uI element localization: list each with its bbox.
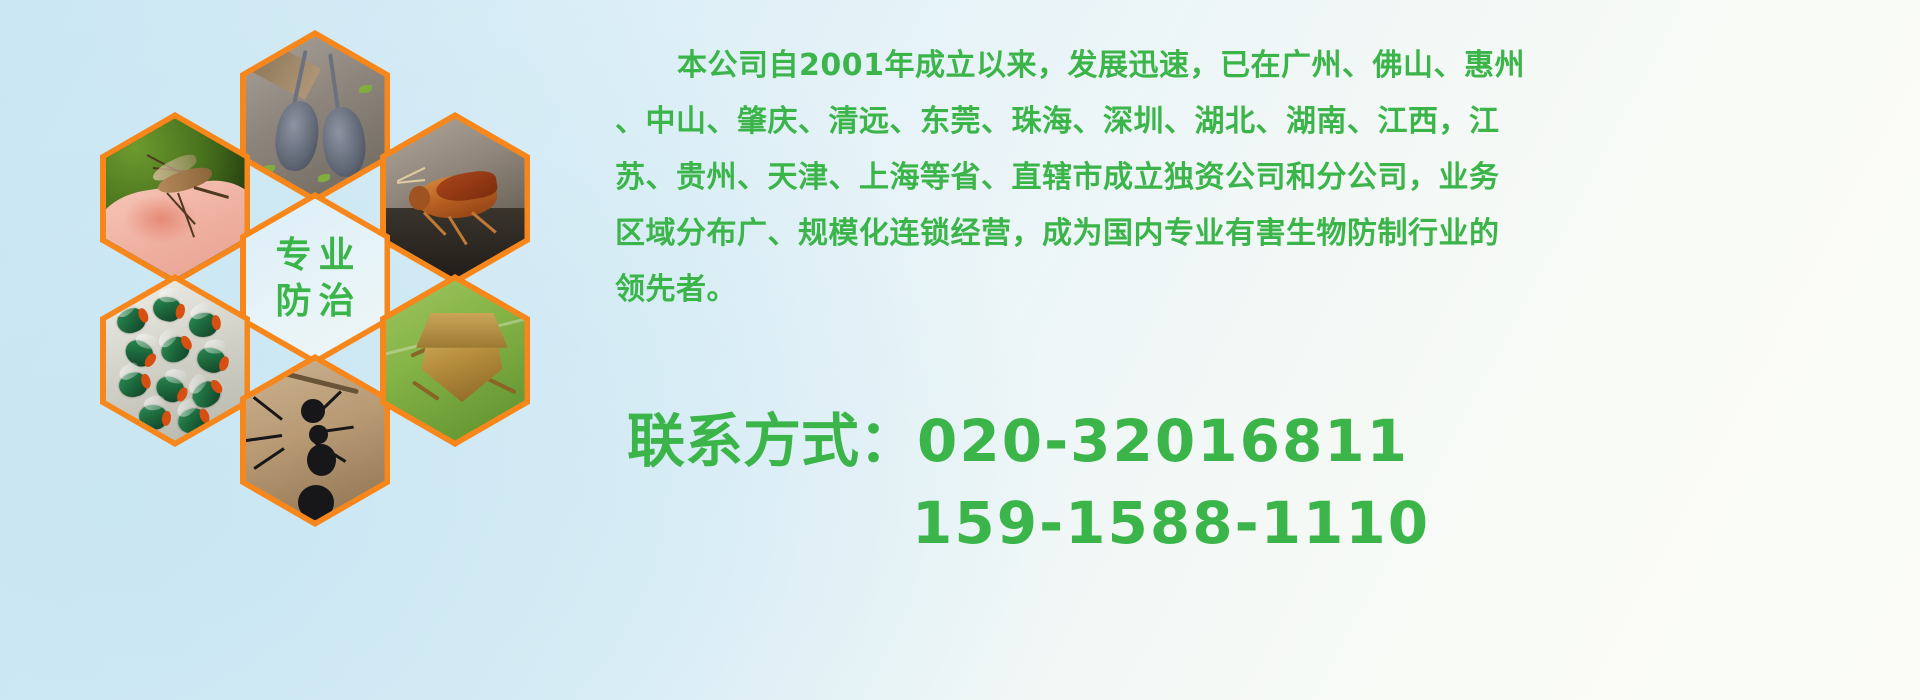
fly-icon [117,370,150,400]
hex-inner-slogan: 专业 防治 [246,199,385,359]
contact-primary-line: 联系方式：020-32016811 [627,400,1907,482]
hex-inner-rats [246,37,385,197]
ant-leg-icon [252,396,282,421]
hex-inner-stink-bug [386,281,525,441]
fly-icon [174,404,208,436]
description-line: 区域分布广、规模化连锁经营，成为国内专业有害生物防制行业的 [615,206,1905,262]
hex-cell-ant[interactable] [240,354,390,527]
phone-primary[interactable]: 020-32016811 [917,407,1409,475]
rat-body-icon [320,105,369,179]
ant-second-body-icon [298,485,334,520]
hexagon-photo-cluster: 专业 防治 [86,0,586,572]
phone-secondary[interactable]: 159-1588-1110 [912,489,1430,557]
rats-photo [246,37,385,197]
roach-head-icon [409,186,430,210]
description-line: 苏、贵州、天津、上海等省、直辖市成立独资公司和分公司，业务 [615,150,1905,206]
cockroach-photo [386,119,525,279]
fly-icon [194,344,228,375]
rat-body-icon [272,98,322,173]
fly-icon [187,311,218,339]
leaf-icon [318,174,331,182]
flies-photo [106,281,245,441]
ant-leg-icon [246,434,282,442]
plank-shape [246,37,321,101]
leaf-icon [359,85,372,93]
soil-crack-shape [258,364,359,394]
hex-cell-stink-bug[interactable] [380,274,530,447]
hex-cell-mosquito[interactable] [100,112,250,285]
slogan-line-1: 专业 [268,238,361,274]
ant-leg-icon [254,447,286,470]
slogan-line-2: 防治 [268,284,361,320]
banner-stage: 专业 防治 [0,0,1920,700]
description-line: 、中山、肇庆、清远、东莞、珠海、深圳、湖北、湖南、江西，江 [615,94,1905,150]
ground-shape [386,208,525,278]
contact-secondary-line: 159-1588-1110 [627,482,1907,564]
hex-cell-slogan: 专业 防治 [240,192,390,365]
fly-icon [137,403,168,431]
ant-photo [246,361,385,521]
bug-pronotum-icon [416,313,508,348]
ant-head-icon [301,399,325,423]
leaf-icon [262,165,275,173]
stink-bug-photo [386,281,525,441]
hex-inner-flies [106,281,245,441]
hex-cell-rats[interactable] [240,30,390,203]
hex-inner-ant [246,361,385,521]
bug-leg-icon [487,377,516,394]
ant-abdomen-icon [307,444,336,476]
description-line: 本公司自2001年成立以来，发展迅速，已在广州、佛山、惠州 [615,38,1905,94]
description-line: 领先者。 [615,262,1905,318]
hex-inner-cockroach [386,119,525,279]
contact-label: 联系方式： [627,407,917,475]
hex-cell-cockroach[interactable] [380,112,530,285]
mosquito-photo [106,119,245,279]
hex-cell-flies[interactable] [100,274,250,447]
ant-thorax-icon [309,425,327,444]
bug-leg-icon [412,380,440,400]
hex-inner-mosquito [106,119,245,279]
company-description: 本公司自2001年成立以来，发展迅速，已在广州、佛山、惠州 、中山、肇庆、清远、… [615,38,1905,318]
fly-icon [151,294,183,323]
fly-icon [157,333,193,368]
contact-block: 联系方式：020-32016811 159-1588-1110 [627,400,1907,564]
